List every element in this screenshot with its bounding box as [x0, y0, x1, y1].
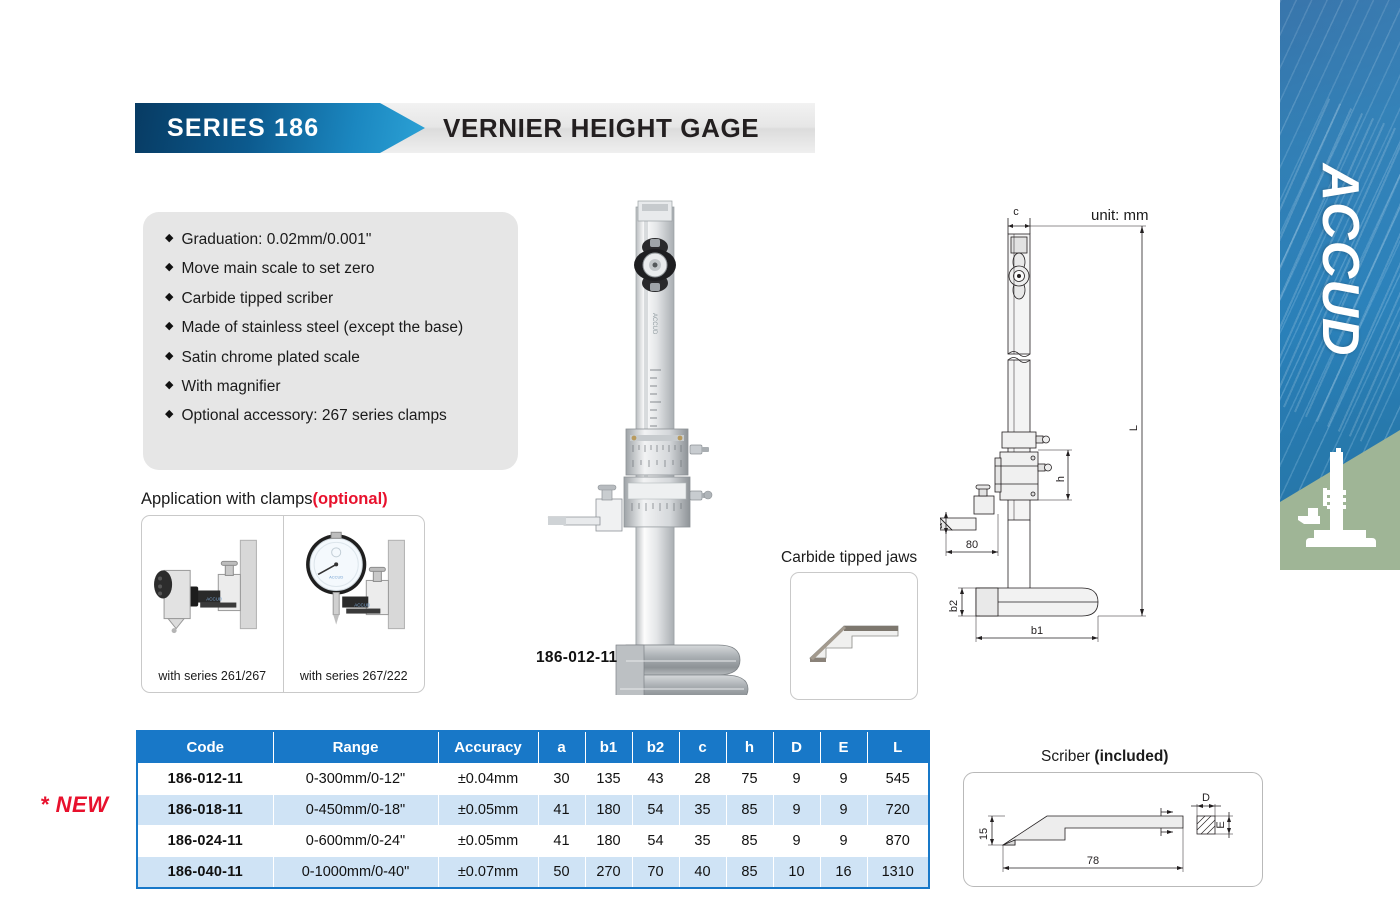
svg-text:ACCUD: ACCUD [354, 603, 371, 608]
svg-text:b1: b1 [1031, 625, 1043, 637]
column-header-a: a [538, 731, 585, 764]
svg-text:80: 80 [966, 539, 978, 551]
cell-range: 0-300mm/0-12" [273, 764, 438, 795]
series-badge: SERIES 186 [135, 103, 425, 153]
svg-text:b2: b2 [948, 600, 960, 612]
feature-item: ◆ Graduation: 0.02mm/0.001" [165, 230, 504, 249]
application-optional-text: (optional) [313, 490, 388, 508]
diamond-bullet-icon: ◆ [165, 230, 173, 247]
column-header-L: L [867, 731, 929, 764]
diamond-bullet-icon: ◆ [165, 259, 173, 276]
application-images-box: ACCUD with series 261/267 ACCUD [141, 515, 425, 693]
cell-accuracy: ±0.07mm [438, 857, 538, 889]
clamp-photo-261-267: ACCUD [142, 516, 283, 669]
application-cell: ACCUD ACCUD with series 267/222 [283, 516, 425, 692]
cell-c: 28 [679, 764, 726, 795]
column-header-h: h [726, 731, 773, 764]
cell-b2: 54 [632, 795, 679, 826]
cell-range: 0-450mm/0-18" [273, 795, 438, 826]
specifications-table: Code Range Accuracy a b1 b2 c h D E L 18… [136, 730, 930, 889]
cell-c: 40 [679, 857, 726, 889]
svg-text:D: D [1202, 792, 1210, 804]
cell-b1: 270 [585, 857, 632, 889]
cell-b2: 70 [632, 857, 679, 889]
column-header-c: c [679, 731, 726, 764]
cell-b1: 180 [585, 795, 632, 826]
cell-range: 0-1000mm/0-40" [273, 857, 438, 889]
feature-item: ◆ With magnifier [165, 377, 504, 396]
feature-item: ◆ Satin chrome plated scale [165, 348, 504, 367]
cell-code: 186-012-11 [137, 764, 273, 795]
scriber-drawing: 15 78 D E [975, 782, 1253, 880]
clamp-photo-267-222: ACCUD ACCUD [284, 516, 425, 669]
feature-text: Optional accessory: 267 series clamps [181, 406, 446, 425]
feature-text: Move main scale to set zero [181, 259, 374, 278]
accud-logo: ACCUD [1310, 164, 1370, 357]
column-header-accuracy: Accuracy [438, 731, 538, 764]
cell-h: 75 [726, 764, 773, 795]
carbide-jaws-title: Carbide tipped jaws [781, 549, 917, 567]
table-row: 186-024-11 0-600mm/0-24" ±0.05mm 41 180 … [137, 826, 929, 857]
cell-h: 85 [726, 857, 773, 889]
scriber-included-text: (included) [1094, 748, 1168, 765]
features-box: ◆ Graduation: 0.02mm/0.001" ◆ Move main … [143, 212, 518, 470]
cell-b1: 180 [585, 826, 632, 857]
series-label: SERIES 186 [135, 114, 319, 143]
cell-h: 85 [726, 826, 773, 857]
application-title-text: Application with clamps [141, 490, 313, 508]
application-caption: with series 267/222 [284, 669, 425, 692]
cell-a: 41 [538, 826, 585, 857]
technical-drawing-height-gage: c h [940, 200, 1180, 670]
diamond-bullet-icon: ◆ [165, 377, 173, 394]
feature-text: Satin chrome plated scale [181, 348, 359, 367]
cell-a: 50 [538, 857, 585, 889]
column-header-code: Code [137, 731, 273, 764]
cell-code: 186-018-11 [137, 795, 273, 826]
feature-item: ◆ Move main scale to set zero [165, 259, 504, 278]
scriber-title: Scriber (included) [1041, 748, 1168, 766]
column-header-b1: b1 [585, 731, 632, 764]
feature-item: ◆ Optional accessory: 267 series clamps [165, 406, 504, 425]
cell-h: 85 [726, 795, 773, 826]
diamond-bullet-icon: ◆ [165, 406, 173, 423]
table-row: 186-040-11 0-1000mm/0-40" ±0.07mm 50 270… [137, 857, 929, 889]
cell-D: 10 [773, 857, 820, 889]
cell-E: 9 [820, 764, 867, 795]
feature-text: Made of stainless steel (except the base… [181, 318, 463, 337]
svg-text:L: L [1128, 425, 1140, 431]
svg-text:ACCUD: ACCUD [329, 574, 343, 579]
feature-item: ◆ Carbide tipped scriber [165, 289, 504, 308]
carbide-jaw-photo [800, 600, 910, 680]
cell-a: 41 [538, 795, 585, 826]
column-header-D: D [773, 731, 820, 764]
application-caption: with series 261/267 [142, 669, 283, 692]
table-header-row: Code Range Accuracy a b1 b2 c h D E L [137, 731, 929, 764]
svg-text:ACCUD: ACCUD [651, 313, 657, 335]
column-header-b2: b2 [632, 731, 679, 764]
cell-D: 9 [773, 795, 820, 826]
cell-b2: 54 [632, 826, 679, 857]
product-model-label: 186-012-11 [536, 649, 617, 667]
cell-accuracy: ±0.04mm [438, 764, 538, 795]
cell-c: 35 [679, 795, 726, 826]
table-row: 186-012-11 0-300mm/0-12" ±0.04mm 30 135 … [137, 764, 929, 795]
cell-L: 545 [867, 764, 929, 795]
application-cell: ACCUD with series 261/267 [142, 516, 283, 692]
feature-item: ◆ Made of stainless steel (except the ba… [165, 318, 504, 337]
diamond-bullet-icon: ◆ [165, 318, 173, 335]
cell-D: 9 [773, 826, 820, 857]
column-header-E: E [820, 731, 867, 764]
cell-L: 720 [867, 795, 929, 826]
feature-text: With magnifier [181, 377, 280, 396]
scriber-title-text: Scriber [1041, 748, 1094, 765]
table-row: 186-018-11 0-450mm/0-18" ±0.05mm 41 180 … [137, 795, 929, 826]
page-title: VERNIER HEIGHT GAGE [443, 103, 759, 153]
svg-text:c: c [1013, 206, 1019, 218]
cell-L: 1310 [867, 857, 929, 889]
feature-text: Graduation: 0.02mm/0.001" [181, 230, 371, 249]
svg-text:ACCUD: ACCUD [206, 597, 223, 602]
diamond-bullet-icon: ◆ [165, 289, 173, 306]
svg-text:E: E [1215, 821, 1227, 828]
svg-text:a: a [940, 522, 945, 529]
cell-c: 35 [679, 826, 726, 857]
cell-accuracy: ±0.05mm [438, 826, 538, 857]
cell-b2: 43 [632, 764, 679, 795]
svg-text:78: 78 [1087, 855, 1099, 867]
cell-E: 9 [820, 826, 867, 857]
header-banner: SERIES 186 VERNIER HEIGHT GAGE [135, 103, 815, 153]
height-gage-silhouette-icon [1280, 430, 1400, 570]
column-header-range: Range [273, 731, 438, 764]
diamond-bullet-icon: ◆ [165, 348, 173, 365]
cell-a: 30 [538, 764, 585, 795]
cell-b1: 135 [585, 764, 632, 795]
cell-range: 0-600mm/0-24" [273, 826, 438, 857]
svg-text:15: 15 [978, 828, 990, 840]
application-title: Application with clamps(optional) [141, 490, 388, 509]
cell-accuracy: ±0.05mm [438, 795, 538, 826]
svg-text:h: h [1055, 476, 1067, 482]
new-badge: * NEW [40, 792, 109, 818]
cell-E: 9 [820, 795, 867, 826]
product-photo-height-gage: ACCUD [540, 195, 810, 695]
cell-code: 186-040-11 [137, 857, 273, 889]
cell-E: 16 [820, 857, 867, 889]
cell-code: 186-024-11 [137, 826, 273, 857]
cell-L: 870 [867, 826, 929, 857]
cell-D: 9 [773, 764, 820, 795]
feature-text: Carbide tipped scriber [181, 289, 333, 308]
